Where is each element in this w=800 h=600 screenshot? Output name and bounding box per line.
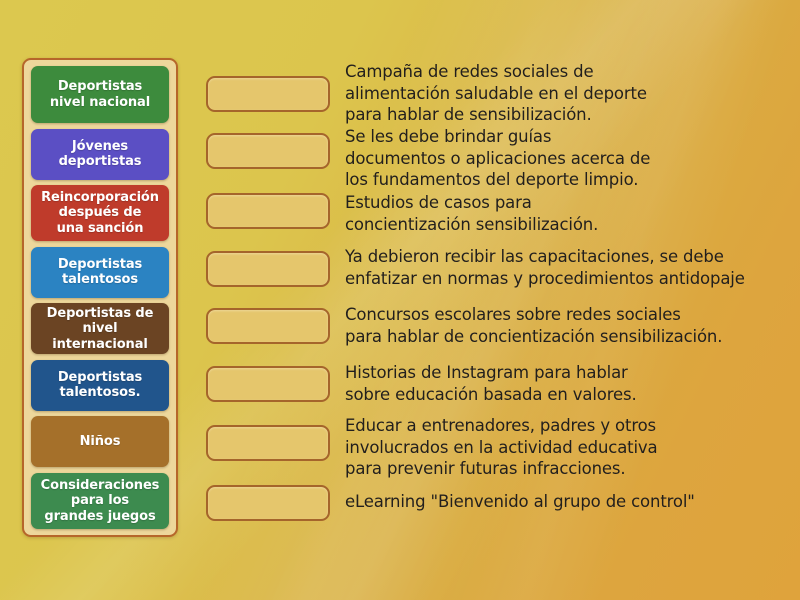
dropzone-3[interactable] [206,193,330,229]
draggable-tile[interactable]: Deportistas talentosos [31,247,169,298]
draggable-tile[interactable]: Deportistas de nivel internacional [31,303,169,354]
draggable-tiles-panel: Deportistas nivel nacionalJóvenes deport… [22,58,178,537]
draggable-tile[interactable]: Reincorporación después de una sanción [31,185,169,241]
dropzone-2[interactable] [206,133,330,169]
answer-text: Campaña de redes sociales de alimentació… [345,61,785,126]
answer-text: Historias de Instagram para hablar sobre… [345,362,785,405]
answer-text: Estudios de casos para concientización s… [345,192,785,235]
dropzone-6[interactable] [206,366,330,402]
draggable-tile[interactable]: Deportistas talentosos. [31,360,169,411]
match-up-activity-canvas: Deportistas nivel nacionalJóvenes deport… [0,0,800,600]
dropzone-5[interactable] [206,308,330,344]
draggable-tile[interactable]: Consideraciones para los grandes juegos [31,473,169,529]
answer-text: Se les debe brindar guías documentos o a… [345,126,785,191]
answer-text: Ya debieron recibir las capacitaciones, … [345,246,785,289]
dropzone-4[interactable] [206,251,330,287]
dropzone-1[interactable] [206,76,330,112]
draggable-tile[interactable]: Niños [31,416,169,467]
answer-text: Concursos escolares sobre redes sociales… [345,304,785,347]
draggable-tile[interactable]: Jóvenes deportistas [31,129,169,180]
draggable-tile[interactable]: Deportistas nivel nacional [31,66,169,123]
answer-text: eLearning "Bienvenido al grupo de contro… [345,491,785,513]
dropzone-8[interactable] [206,485,330,521]
dropzone-7[interactable] [206,425,330,461]
answer-text: Educar a entrenadores, padres y otros in… [345,415,785,480]
